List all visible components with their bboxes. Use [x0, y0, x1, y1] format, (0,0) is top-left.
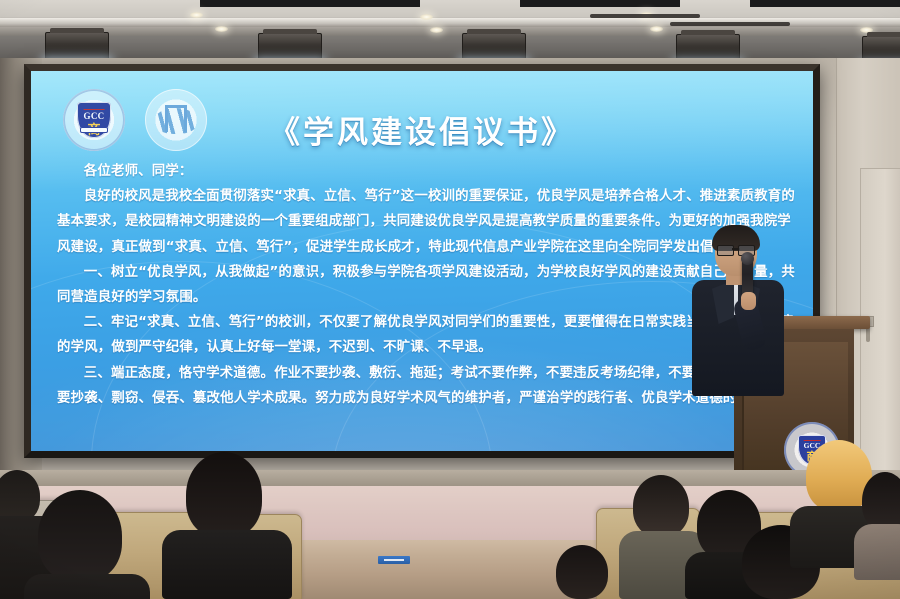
lecture-hall-photo: GCC 商 《学风建设倡议书》 各位老师、同学： 良好的校风是我校全面贯彻落实“…: [0, 0, 900, 599]
desk-number-plate: [378, 556, 410, 564]
stage-light: [258, 33, 322, 61]
ceiling-panel: [520, 0, 680, 7]
slide-paragraph: 三、端正态度，恪守学术道德。作业不要抄袭、敷衍、拖延；考试不要作弊，不要违反考场…: [57, 361, 795, 411]
glasses-lens-left: [717, 245, 734, 256]
slide-paragraph: 良好的校风是我校全面贯彻落实“求真、立信、笃行”这一校训的重要保证，优良学风是培…: [57, 184, 795, 260]
audience-torso: [162, 530, 292, 599]
audience-torso: [24, 574, 150, 599]
ceiling-beam: [0, 27, 900, 36]
ceiling-panel: [750, 0, 900, 7]
slide-paragraph: 一、树立“优良学风，从我做起”的意识，积极参与学院各项学风建设活动，为学校良好学…: [57, 260, 795, 310]
slide-paragraph: 二、牢记“求真、立信、笃行”的校训，不仅要了解优良学风对同学们的重要性，更要懂得…: [57, 310, 795, 360]
speaker-person: [690, 228, 786, 396]
speaker-hand: [741, 292, 756, 310]
slide-title: 《学风建设倡议书》: [31, 107, 813, 152]
ceiling-cable: [590, 14, 700, 18]
stage-light: [45, 32, 109, 60]
ceiling-cable: [670, 22, 790, 26]
stage-light: [462, 33, 526, 61]
downlight-icon: [650, 26, 663, 32]
downlight-icon: [215, 26, 228, 32]
audience-head: [38, 490, 122, 582]
audience-head: [633, 475, 689, 537]
slide-paragraph: 各位老师、同学：: [57, 159, 795, 184]
stage-edge: [0, 470, 900, 486]
downlight-icon: [190, 12, 203, 18]
ceiling-panel: [200, 0, 420, 7]
downlight-icon: [430, 27, 443, 33]
audience-head: [0, 470, 40, 522]
audience-torso: [854, 524, 900, 580]
audience-head: [862, 472, 900, 530]
slide-body-text: 各位老师、同学： 良好的校风是我校全面贯彻落实“求真、立信、笃行”这一校训的重要…: [57, 159, 795, 411]
ceiling: [0, 0, 900, 62]
audience-head: [556, 545, 608, 599]
audience-head: [186, 452, 262, 538]
downlight-icon: [420, 14, 433, 20]
